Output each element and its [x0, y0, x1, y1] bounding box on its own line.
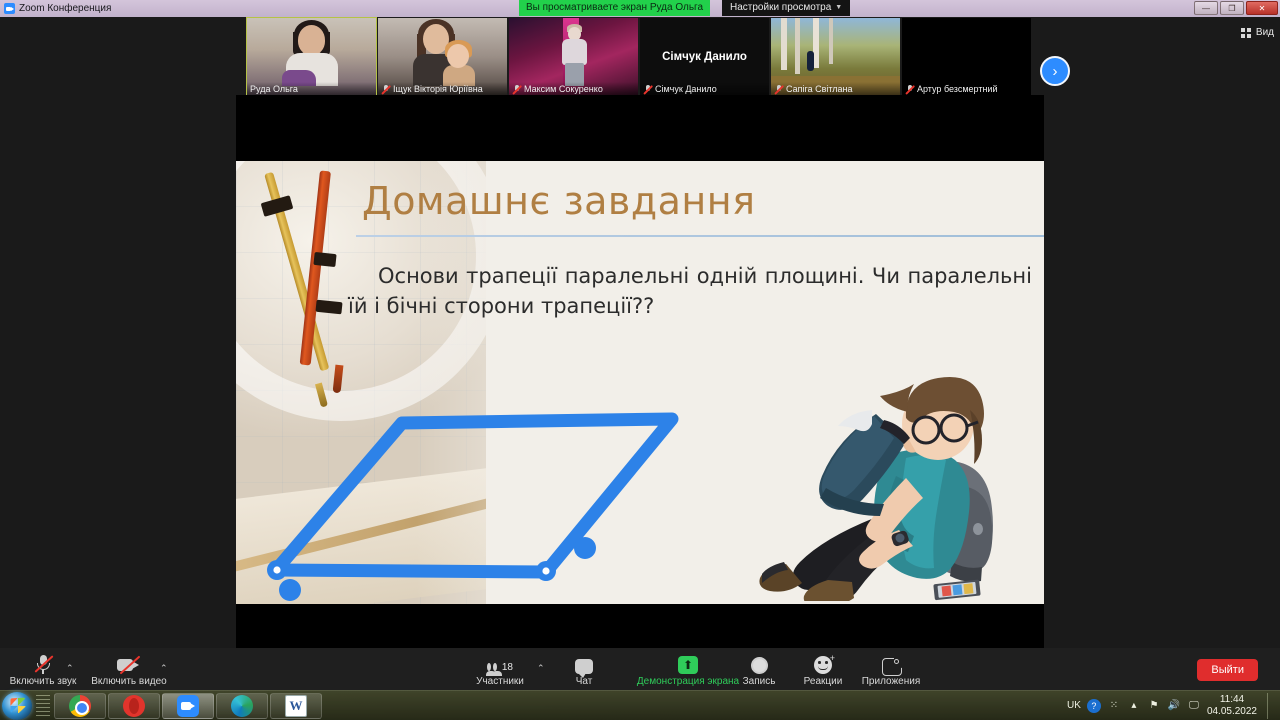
maximize-button[interactable]: ❐ — [1220, 1, 1244, 15]
zoom-meeting-window: Руда Ольга Іщук Вікторія Юріївна — [0, 17, 1280, 690]
participant-tile-simchuk[interactable]: Сімчук Данило Сімчук Данило — [639, 17, 770, 97]
participant-filmstrip: Руда Ольга Іщук Вікторія Юріївна — [246, 17, 1040, 97]
participant-label: Іщук Вікторія Юріївна — [393, 84, 483, 94]
taskbar-item-opera[interactable] — [108, 693, 160, 719]
apps-icon — [882, 654, 900, 674]
participant-tile-ruda-olga[interactable]: Руда Ольга — [246, 17, 377, 97]
view-button[interactable]: Вид — [1241, 27, 1274, 38]
grid-view-icon — [1241, 28, 1252, 38]
volume-icon[interactable]: 🔊 — [1167, 699, 1181, 713]
participant-name-row: Сімчук Данило — [640, 82, 769, 96]
view-button-label: Вид — [1256, 27, 1274, 38]
zoom-icon — [177, 695, 199, 717]
leave-meeting-button[interactable]: Выйти — [1197, 659, 1258, 681]
zoom-logo-icon — [4, 3, 15, 14]
chevron-down-icon: ▼ — [835, 0, 842, 16]
taskbar-item-chrome[interactable] — [54, 693, 106, 719]
network-icon[interactable]: ⁙ — [1107, 699, 1121, 713]
mic-muted-icon — [381, 84, 390, 94]
chrome-icon — [69, 695, 91, 717]
apps-label: Приложения — [862, 676, 921, 687]
mic-muted-icon — [34, 654, 52, 674]
participant-name-row: Руда Ольга — [247, 82, 376, 96]
clock[interactable]: 11:44 04.05.2022 — [1207, 694, 1261, 717]
language-indicator[interactable]: UK — [1067, 700, 1081, 711]
participant-name-row: Максим Сокуренко — [509, 82, 638, 96]
window-title: Zoom Конференция — [19, 3, 111, 14]
window-controls: — ❐ ✕ — [1194, 1, 1278, 15]
quick-launch-handle[interactable] — [36, 695, 50, 717]
participant-tile-artur[interactable]: Артур безсмертний — [901, 17, 1032, 97]
mic-muted-icon — [643, 84, 652, 94]
opera-icon — [123, 695, 145, 717]
chat-button[interactable]: Чат — [541, 654, 627, 687]
participant-label: Руда Ольга — [250, 84, 298, 94]
participants-label: Участники — [476, 676, 524, 687]
taskbar-item-zoom[interactable] — [162, 693, 214, 719]
participant-label: Сапіга Світлана — [786, 84, 853, 94]
mic-muted-icon — [774, 84, 783, 94]
participants-button[interactable]: 18 Участники — [457, 654, 543, 687]
screen-share-banner: Вы просматриваете экран Руда Ольга — [519, 0, 710, 16]
participant-tile-sapiha[interactable]: Сапіга Світлана — [770, 17, 901, 97]
clock-time: 11:44 — [1207, 694, 1257, 706]
unmute-label: Включить звук — [10, 676, 77, 687]
windows-start-orb-icon[interactable] — [2, 692, 32, 720]
chat-bubble-icon — [575, 654, 593, 674]
chevron-right-icon[interactable]: › — [1040, 56, 1070, 86]
mic-muted-icon — [905, 84, 914, 94]
people-icon: 18 — [487, 654, 513, 674]
windows-taskbar: W UK ? ⁙ ▴ ⚑ 🔊 🖵 11:44 04.05.2022 — [0, 690, 1280, 720]
view-options-button[interactable]: Настройки просмотра ▼ — [722, 0, 850, 16]
presentation-slide: Домашнє завдання Основи трапеції паралел… — [236, 161, 1044, 604]
audio-options-chevron-up-icon[interactable]: ⌃ — [66, 663, 74, 674]
edge-icon — [231, 695, 253, 717]
participant-name-row: Іщук Вікторія Юріївна — [378, 82, 507, 96]
meeting-toolbar: Включить звук ⌃ Включить видео ⌃ 18 Учас… — [0, 648, 1280, 690]
participant-name-row: Артур безсмертний — [902, 82, 1031, 96]
taskbar-item-word[interactable]: W — [270, 693, 322, 719]
share-screen-icon: ⬆ — [678, 654, 698, 674]
show-hidden-chevron-up-icon[interactable]: ▴ — [1127, 699, 1141, 713]
word-icon: W — [285, 695, 307, 717]
mic-muted-icon — [512, 84, 521, 94]
record-label: Запись — [743, 676, 776, 687]
minimize-button[interactable]: — — [1194, 1, 1218, 15]
start-video-label: Включить видео — [91, 676, 167, 687]
participants-count: 18 — [502, 662, 513, 673]
clock-date: 04.05.2022 — [1207, 706, 1257, 718]
system-tray: UK ? ⁙ ▴ ⚑ 🔊 🖵 11:44 04.05.2022 — [1067, 693, 1280, 719]
show-desktop-button[interactable] — [1267, 693, 1276, 719]
security-flag-icon[interactable]: ⚑ — [1147, 699, 1161, 713]
word-glyph: W — [290, 698, 303, 714]
record-circle-icon — [751, 654, 768, 674]
reactions-label: Реакции — [804, 676, 843, 687]
apps-button[interactable]: Приложения — [848, 654, 934, 687]
close-button[interactable]: ✕ — [1246, 1, 1278, 15]
view-options-label: Настройки просмотра — [730, 0, 831, 16]
smiley-plus-icon: + — [814, 654, 832, 674]
shared-screen-stage: Домашнє завдання Основи трапеції паралел… — [236, 95, 1044, 665]
participant-name-row: Сапіга Світлана — [771, 82, 900, 96]
camera-off-icon — [117, 654, 141, 674]
help-circle-icon[interactable]: ? — [1087, 699, 1101, 713]
participant-label: Сімчук Данило — [655, 84, 717, 94]
parallelogram-annotation[interactable] — [236, 161, 1044, 604]
participant-tile-ishchuk[interactable]: Іщук Вікторія Юріївна — [377, 17, 508, 97]
taskbar-item-edge[interactable] — [216, 693, 268, 719]
participant-tile-maksym[interactable]: Максим Сокуренко — [508, 17, 639, 97]
participant-label: Артур безсмертний — [917, 84, 997, 94]
participant-label: Максим Сокуренко — [524, 84, 603, 94]
video-options-chevron-up-icon[interactable]: ⌃ — [160, 663, 168, 674]
display-icon[interactable]: 🖵 — [1187, 699, 1201, 713]
